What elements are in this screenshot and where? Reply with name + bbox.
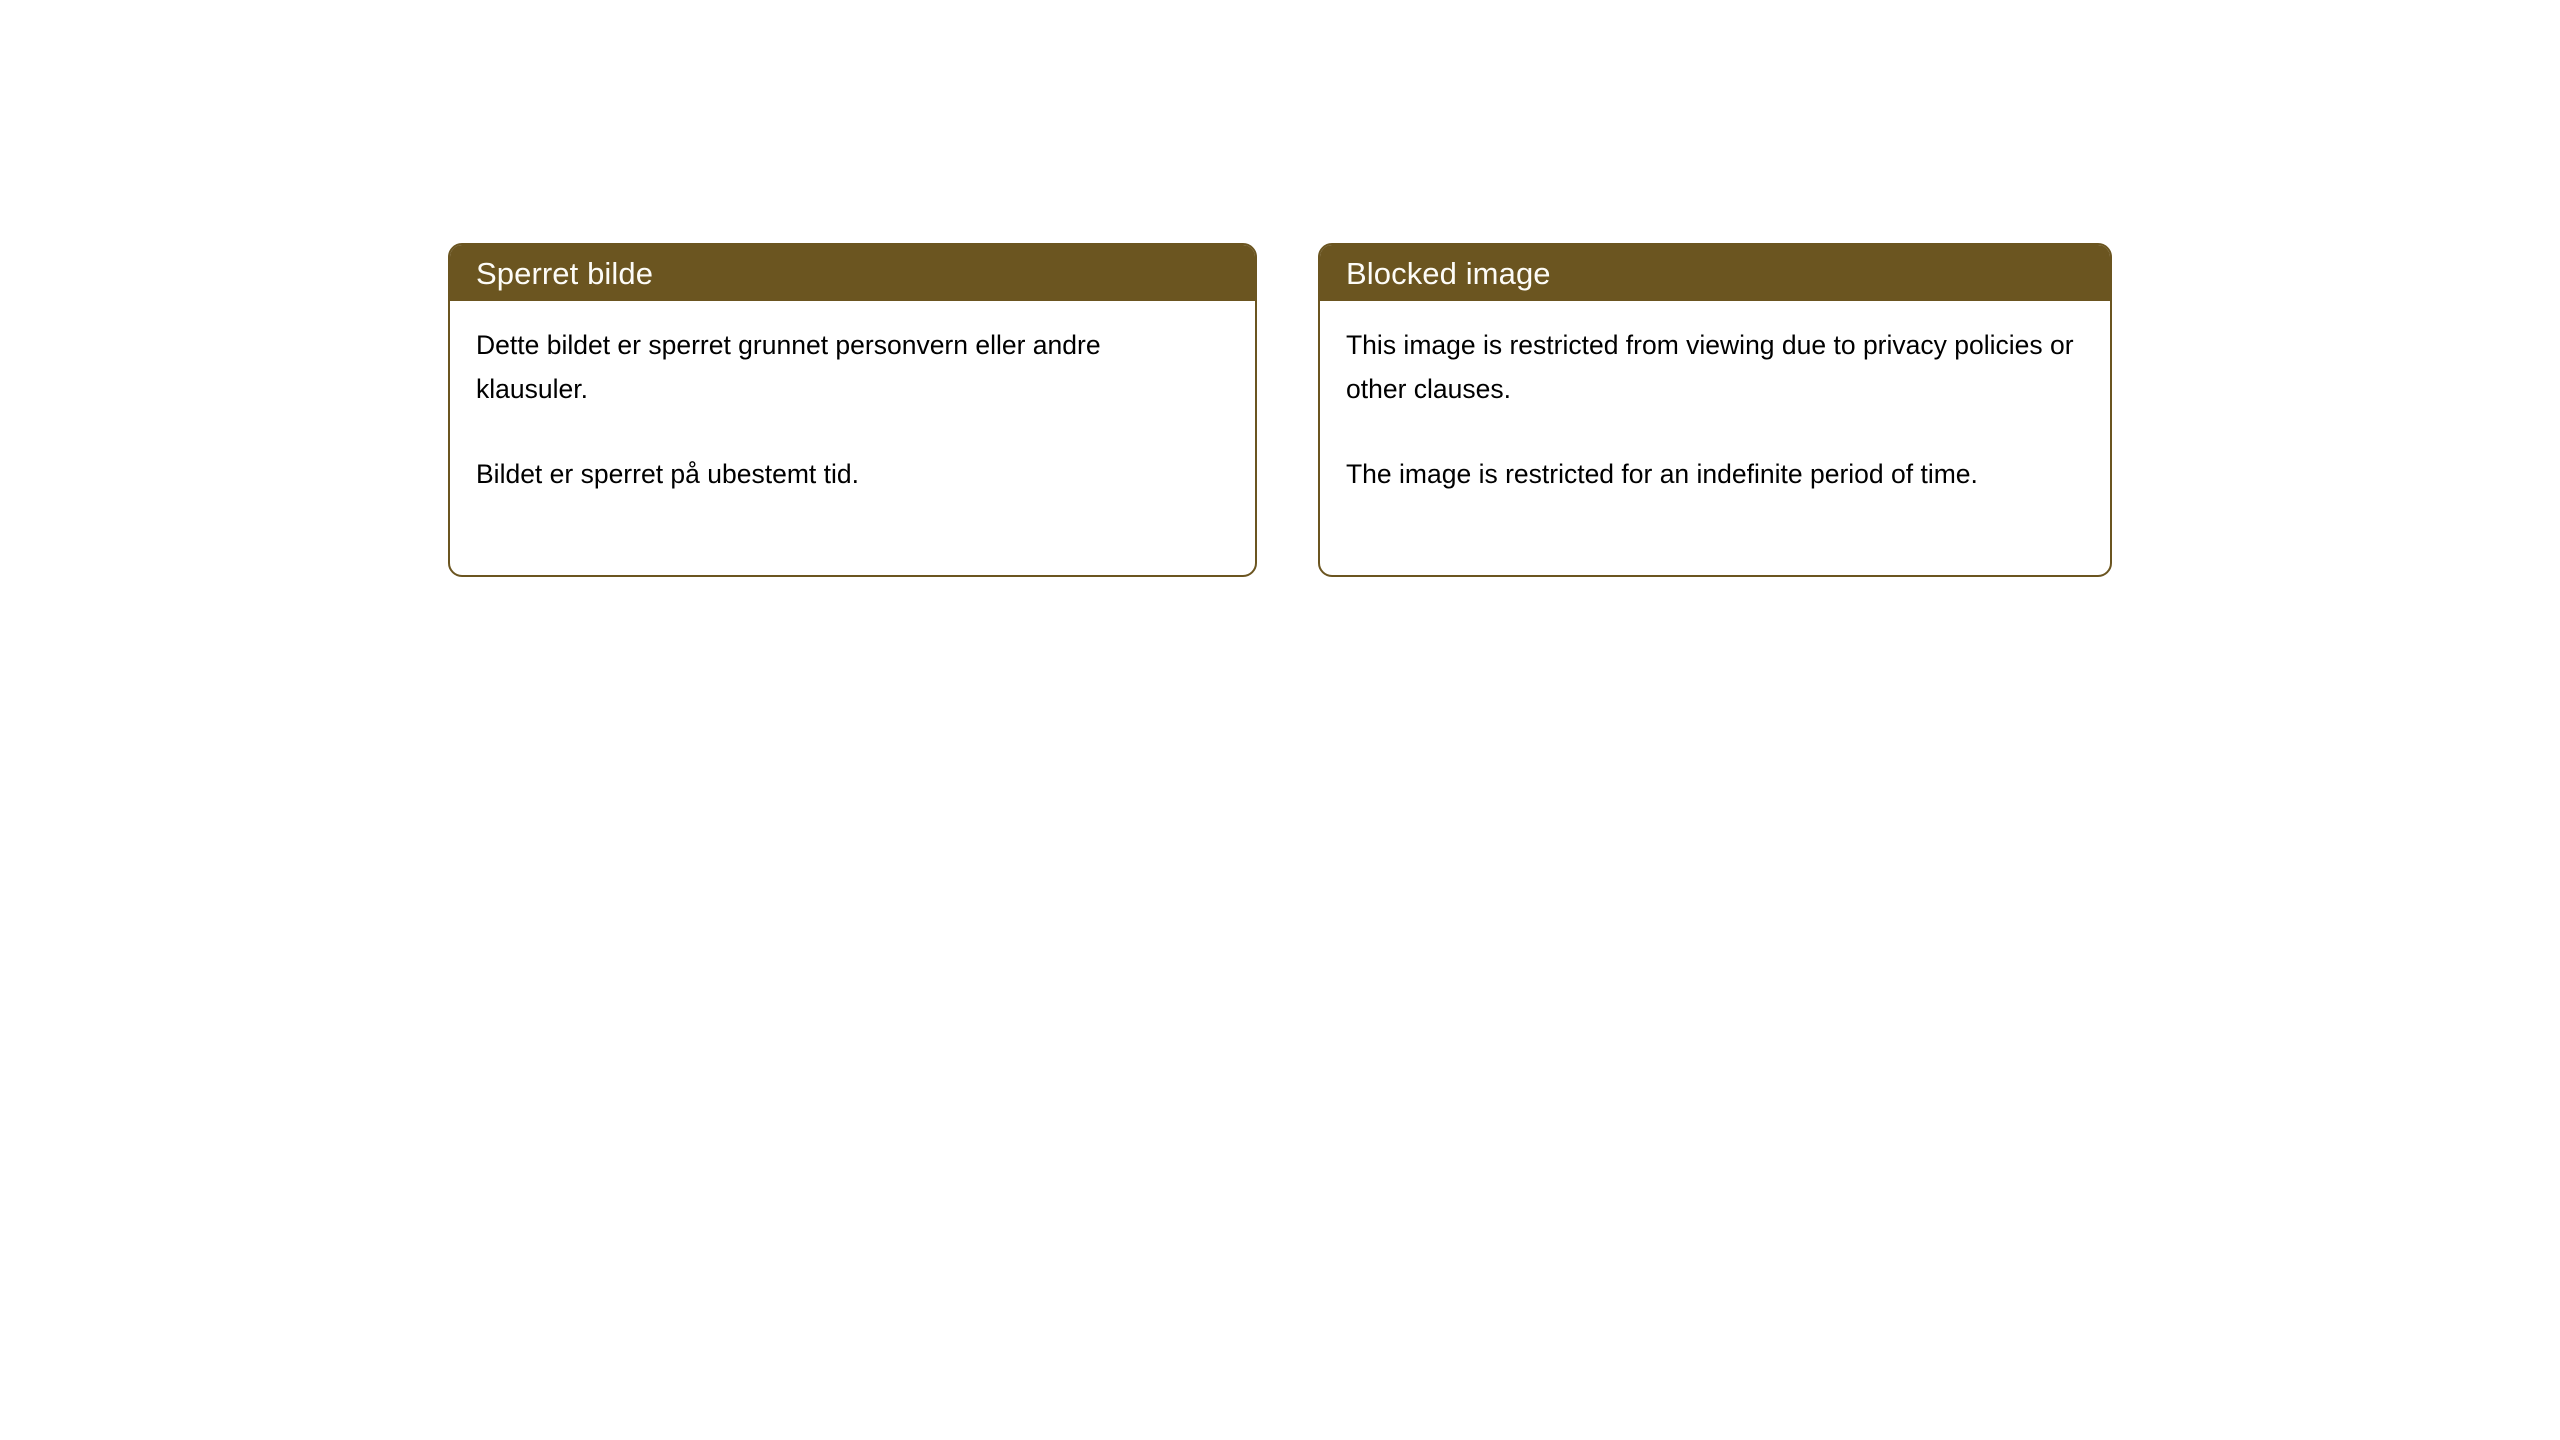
page-canvas: Sperret bilde Dette bildet er sperret gr…: [0, 0, 2560, 1440]
card-header-english: Blocked image: [1320, 245, 2110, 301]
blocked-image-notice-english: Blocked image This image is restricted f…: [1318, 243, 2112, 577]
card-header-norwegian: Sperret bilde: [450, 245, 1255, 301]
blocked-image-notice-norwegian: Sperret bilde Dette bildet er sperret gr…: [448, 243, 1257, 577]
card-title-norwegian: Sperret bilde: [476, 258, 653, 289]
card-body-norwegian: Dette bildet er sperret grunnet personve…: [450, 301, 1255, 496]
card-title-english: Blocked image: [1346, 258, 1551, 289]
card-body-english: This image is restricted from viewing du…: [1320, 301, 2110, 496]
card-paragraph-secondary-english: The image is restricted for an indefinit…: [1346, 452, 2084, 496]
card-paragraph-primary-english: This image is restricted from viewing du…: [1346, 323, 2084, 411]
card-paragraph-secondary-norwegian: Bildet er sperret på ubestemt tid.: [476, 452, 1216, 496]
card-paragraph-primary-norwegian: Dette bildet er sperret grunnet personve…: [476, 323, 1216, 411]
